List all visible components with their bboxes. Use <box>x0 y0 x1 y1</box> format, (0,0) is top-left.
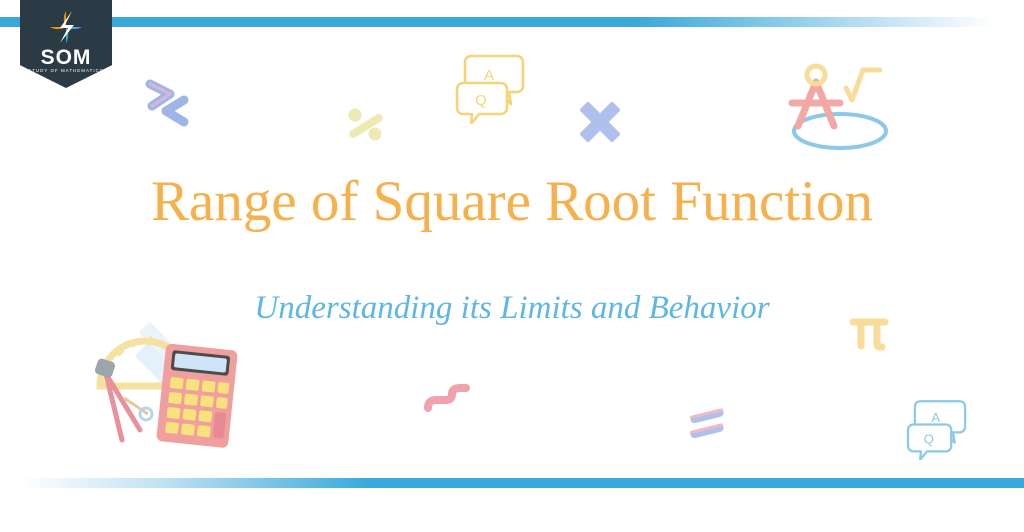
svg-text:A: A <box>931 410 940 425</box>
svg-text:Q: Q <box>475 92 487 109</box>
logo-wordmark: SOM <box>20 47 112 68</box>
calculator-protractor-compass-ruler-icon <box>78 318 253 453</box>
svg-text:A: A <box>484 67 494 84</box>
greater-less-chevrons-icon <box>138 78 198 130</box>
top-accent-bar <box>0 17 1024 27</box>
equals-sign-icon <box>686 406 730 442</box>
logo-tagline: STUDY OF MATHEMATICS <box>20 69 112 73</box>
bottom-accent-bar <box>0 478 1024 488</box>
som-lightning-mark <box>48 9 84 45</box>
question-answer-bubbles-blue-icon: A Q <box>902 396 978 460</box>
question-answer-bubbles-icon: A Q <box>452 50 536 124</box>
som-logo: SOM STUDY OF MATHEMATICS <box>20 0 112 88</box>
page-subtitle: Understanding its Limits and Behavior <box>0 290 1024 326</box>
compass-radical-ellipse-icon <box>768 58 896 162</box>
multiply-cross-icon <box>578 100 622 144</box>
svg-text:Q: Q <box>924 432 934 447</box>
title-slide: A Q A Q <box>0 0 1024 532</box>
percent-division-icon <box>343 103 391 147</box>
page-title: Range of Square Root Function <box>0 172 1024 232</box>
integral-curve-icon <box>422 378 470 416</box>
